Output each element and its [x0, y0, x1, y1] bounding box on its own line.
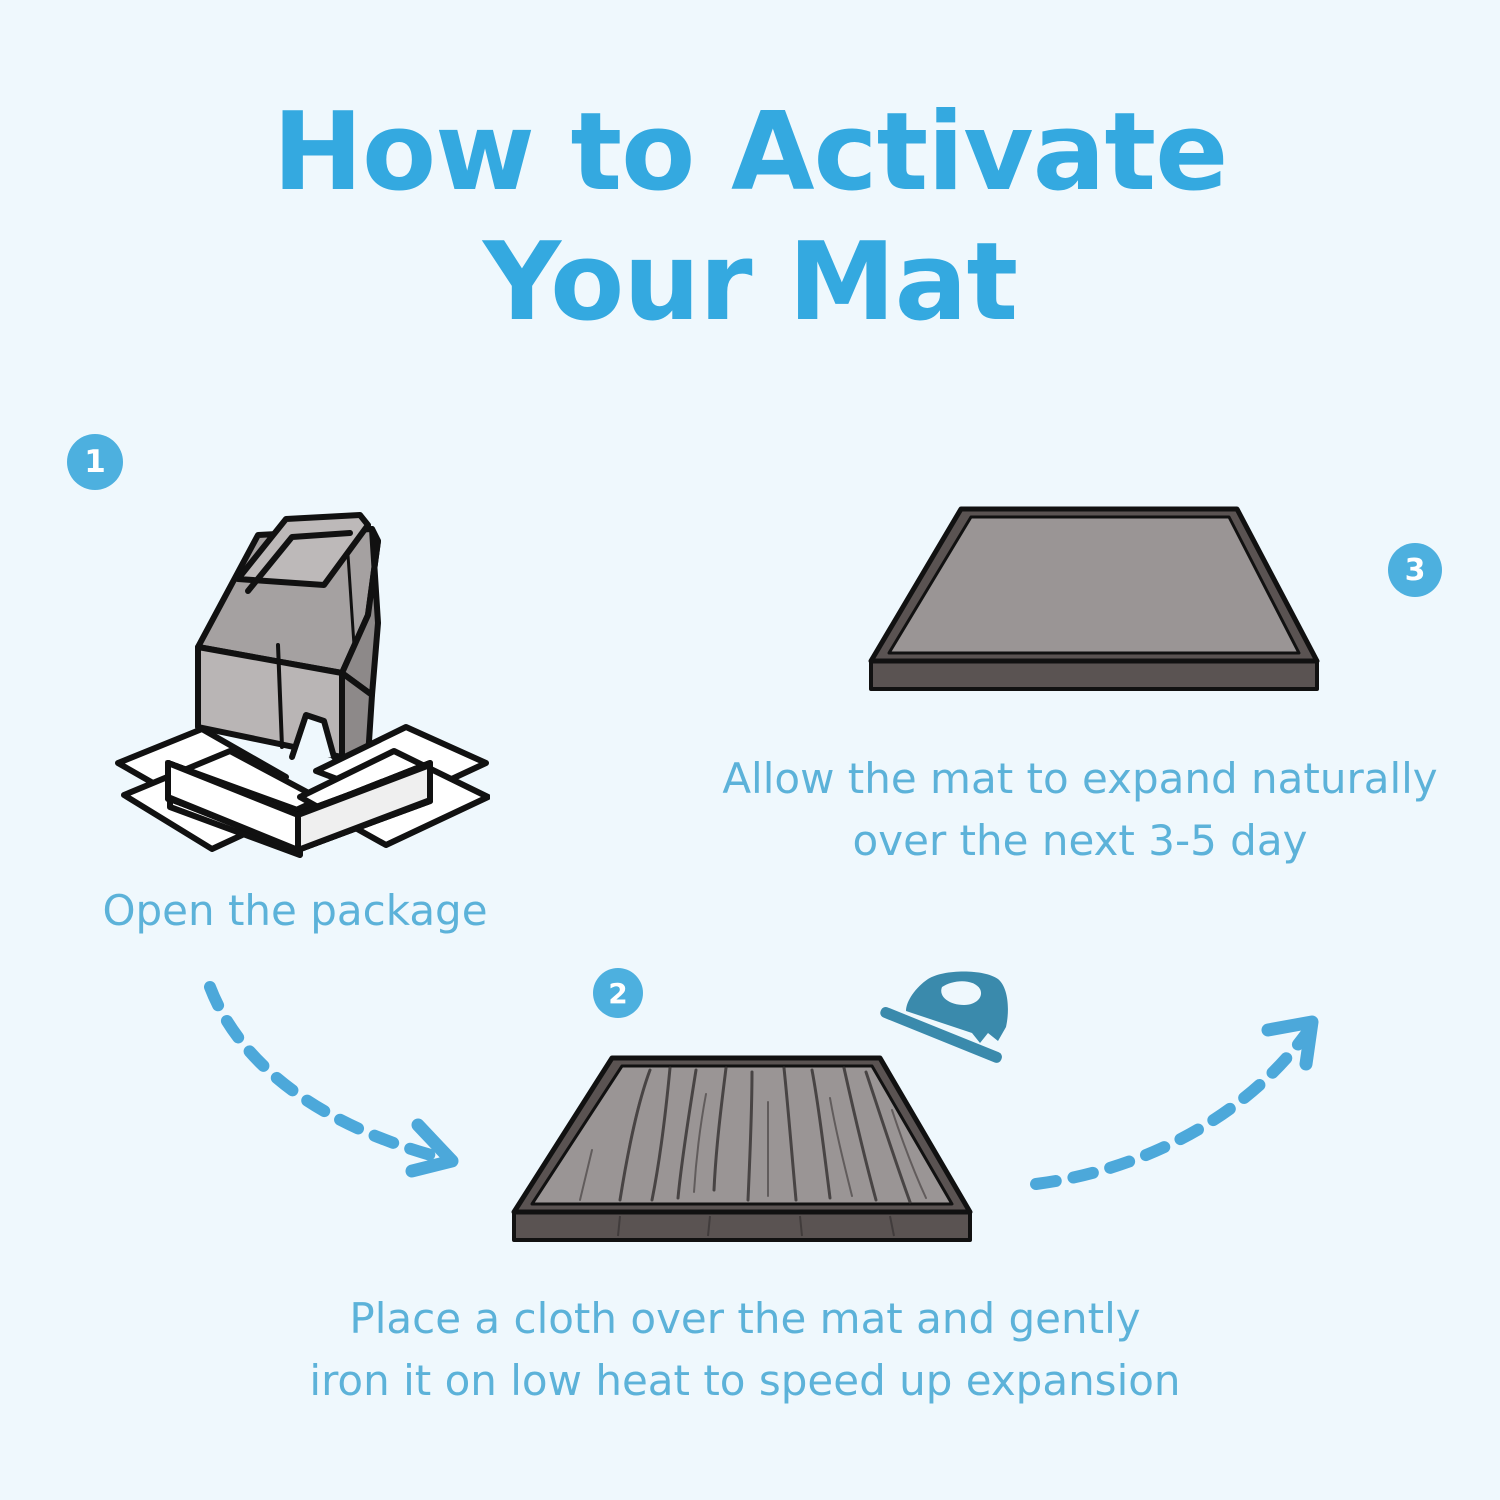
step-1-caption-line-1: Open the package — [0, 880, 590, 942]
step-badge-3-number: 3 — [1405, 553, 1426, 588]
step-badge-2-number: 2 — [608, 977, 627, 1010]
step-badge-1: 1 — [67, 434, 123, 490]
title-line-2: Your Mat — [0, 218, 1500, 348]
dashed-curved-arrow-up-right-icon — [1010, 1000, 1340, 1215]
dashed-curved-arrow-down-right-icon — [180, 975, 500, 1195]
step-2-caption: Place a cloth over the mat and gently ir… — [180, 1288, 1310, 1412]
step-badge-1-number: 1 — [84, 444, 106, 480]
title-line-1: How to Activate — [0, 88, 1500, 218]
step-3-caption-line-1: Allow the mat to expand naturally — [660, 748, 1500, 810]
step-2-caption-line-2: iron it on low heat to speed up expansio… — [180, 1350, 1310, 1412]
step-3-caption-line-2: over the next 3-5 day — [660, 810, 1500, 872]
step-badge-3: 3 — [1388, 543, 1442, 597]
step-1-caption: Open the package — [0, 880, 590, 942]
flat-mat-icon — [865, 485, 1345, 700]
step-2-caption-line-1: Place a cloth over the mat and gently — [180, 1288, 1310, 1350]
wrinkled-mat-icon — [500, 1040, 1000, 1255]
step-badge-2: 2 — [593, 968, 643, 1018]
infographic-canvas: How to Activate Your Mat 1 — [0, 0, 1500, 1500]
step-3-caption: Allow the mat to expand naturally over t… — [660, 748, 1500, 872]
page-title: How to Activate Your Mat — [0, 88, 1500, 348]
open-box-icon — [110, 495, 490, 865]
